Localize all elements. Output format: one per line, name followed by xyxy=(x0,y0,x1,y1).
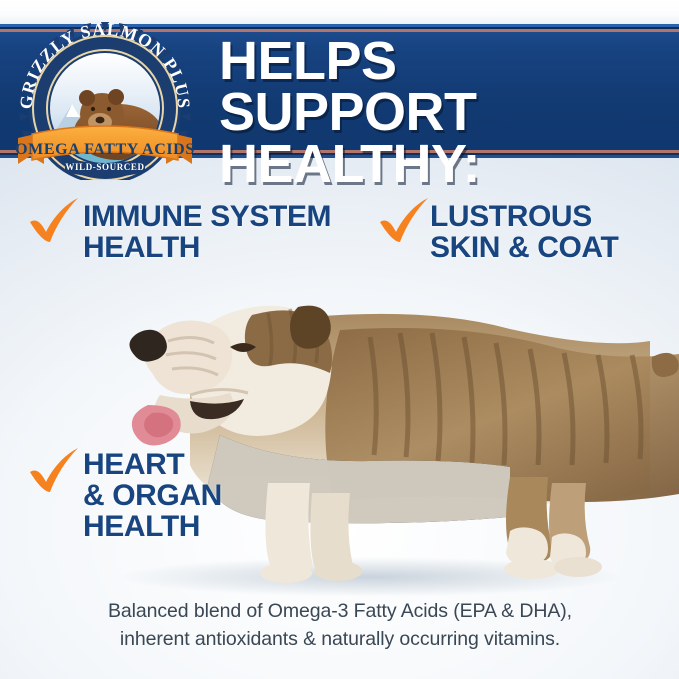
claim-line: SKIN & COAT xyxy=(430,233,618,264)
benefit-claim-heart-and-organ: HEART & ORGAN HEALTH xyxy=(28,446,308,556)
product-caption: Balanced blend of Omega-3 Fatty Acids (E… xyxy=(45,598,635,653)
brand-logo: GRIZZLY SALMON PLUS OMEGA FATTY ACIDS WI… xyxy=(10,12,200,180)
orange-checkmark-icon xyxy=(28,196,82,251)
benefit-claim-immune-system: IMMUNE SYSTEM HEALTH xyxy=(28,196,373,276)
claim-line: HEALTH xyxy=(83,512,222,543)
orange-checkmark-icon xyxy=(28,446,82,501)
claim-line: HEALTH xyxy=(83,233,331,264)
caption-line-1: Balanced blend of Omega-3 Fatty Acids (E… xyxy=(45,598,635,626)
orange-checkmark-icon xyxy=(378,196,432,251)
benefit-claim-skin-and-coat-text: LUSTROUS SKIN & COAT xyxy=(430,202,618,264)
page-title: HELPS SUPPORT HEALTHY: xyxy=(219,36,659,190)
ribbon-label: OMEGA FATTY ACIDS xyxy=(15,141,195,158)
product-benefits-poster: HELPS SUPPORT HEALTHY: xyxy=(0,0,679,679)
page-title-line-1: HELPS SUPPORT xyxy=(219,31,477,142)
page-title-line-2: HEALTHY: xyxy=(219,139,659,190)
claim-line: & ORGAN xyxy=(83,481,222,512)
claim-line: LUSTROUS xyxy=(430,202,618,233)
claim-line: IMMUNE SYSTEM xyxy=(83,202,331,233)
benefit-claim-skin-and-coat: LUSTROUS SKIN & COAT xyxy=(378,196,668,276)
claim-line: HEART xyxy=(83,450,222,481)
benefit-claim-heart-and-organ-text: HEART & ORGAN HEALTH xyxy=(83,450,222,543)
caption-line-2: inherent antioxidants & naturally occurr… xyxy=(45,626,635,654)
benefit-claim-immune-system-text: IMMUNE SYSTEM HEALTH xyxy=(83,202,331,264)
sub-ribbon-label: WILD-SOURCED xyxy=(65,162,144,172)
